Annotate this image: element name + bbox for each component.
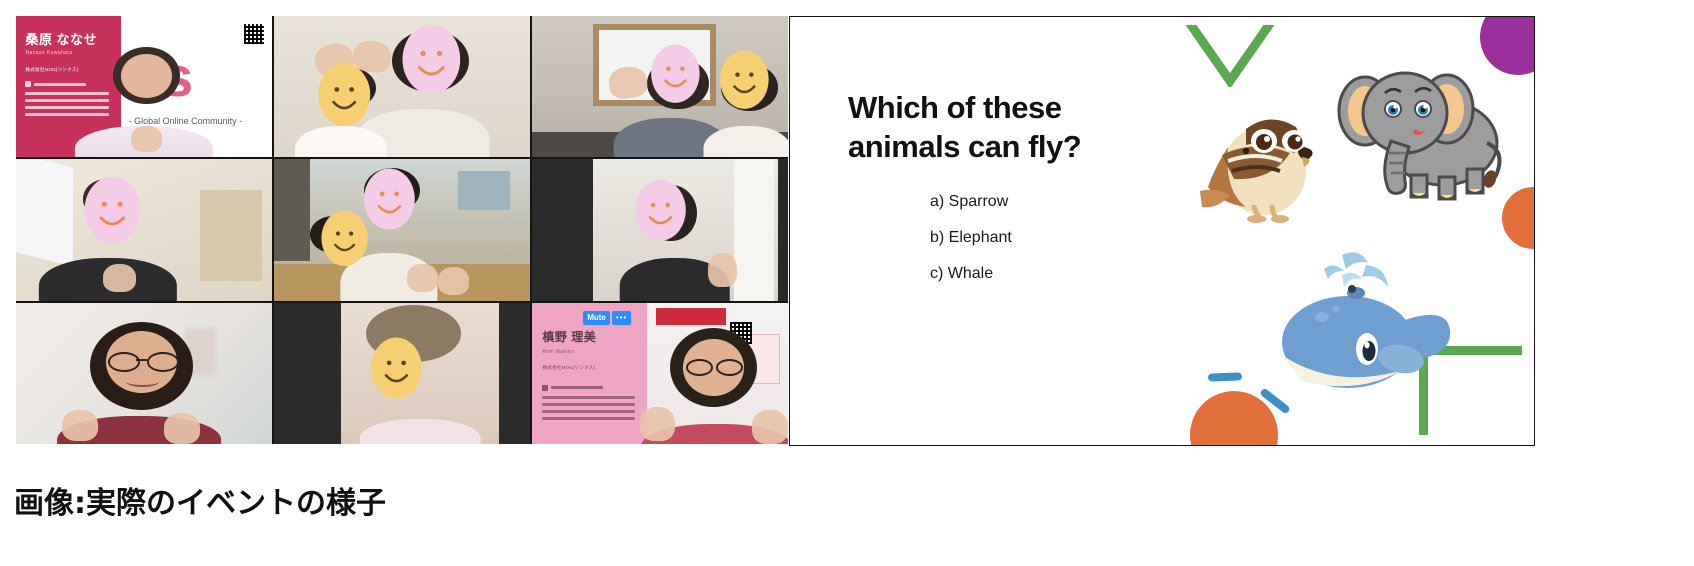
smiley-mask-pink [637,44,714,103]
quiz-question: Which of these animals can fly? [848,89,1178,167]
green-chevron-decoration [1185,25,1275,87]
video-tile-active-speaker[interactable]: 桑原 ななせ Nanase Kuwahara 株式会社MIXs(リンクス) Xs… [16,16,272,157]
image-caption: 画像:実際のイベントの様子 [14,478,386,522]
smiley-mask-yellow [358,337,435,399]
orange-circle-decoration [1190,391,1278,446]
smiley-mask-pink [384,24,479,95]
whale-illustration [1270,247,1455,397]
zoom-meeting-gallery: 桑原 ななせ Nanase Kuwahara 株式会社MIXs(リンクス) Xs… [16,16,788,444]
video-tile[interactable] [274,16,530,157]
video-tile[interactable] [532,159,788,300]
quiz-option-b[interactable]: b) Elephant [930,229,1012,247]
orange-circle-decoration-right [1502,187,1535,249]
quiz-slide: Which of these animals can fly? a) Sparr… [789,16,1535,446]
smiley-mask-yellow [706,50,783,109]
elephant-illustration [1335,57,1505,222]
blue-dash-decoration [1208,372,1242,381]
participant-person [532,303,788,444]
video-tile[interactable]: 槙野 理美 Rimi Makino 株式会社MIXs(リンクス) [532,303,788,444]
participant-person [16,16,272,157]
sparrow-illustration [1194,95,1324,223]
smiley-mask-yellow [310,210,379,267]
smiley-mask-yellow [302,63,386,127]
video-tile[interactable] [274,303,530,444]
smiley-mask-pink [70,176,154,244]
video-tile[interactable] [532,16,788,157]
quiz-options: a) Sparrow b) Elephant c) Whale [930,193,1012,301]
mute-badge-label[interactable]: Mute [583,311,610,325]
more-options-icon[interactable]: ••• [612,311,631,325]
quiz-option-c[interactable]: c) Whale [930,265,1012,283]
quiz-option-a[interactable]: a) Sparrow [930,193,1012,211]
video-tile[interactable] [16,303,272,444]
video-grid: 桑原 ななせ Nanase Kuwahara 株式会社MIXs(リンクス) Xs… [16,16,788,444]
video-tile[interactable] [16,159,272,300]
smiley-mask-pink [622,179,699,241]
page-root: 桑原 ななせ Nanase Kuwahara 株式会社MIXs(リンクス) Xs… [0,0,1694,566]
mute-badge[interactable]: Mute ••• [583,311,631,325]
video-tile[interactable] [274,159,530,300]
participant-person [16,303,272,444]
